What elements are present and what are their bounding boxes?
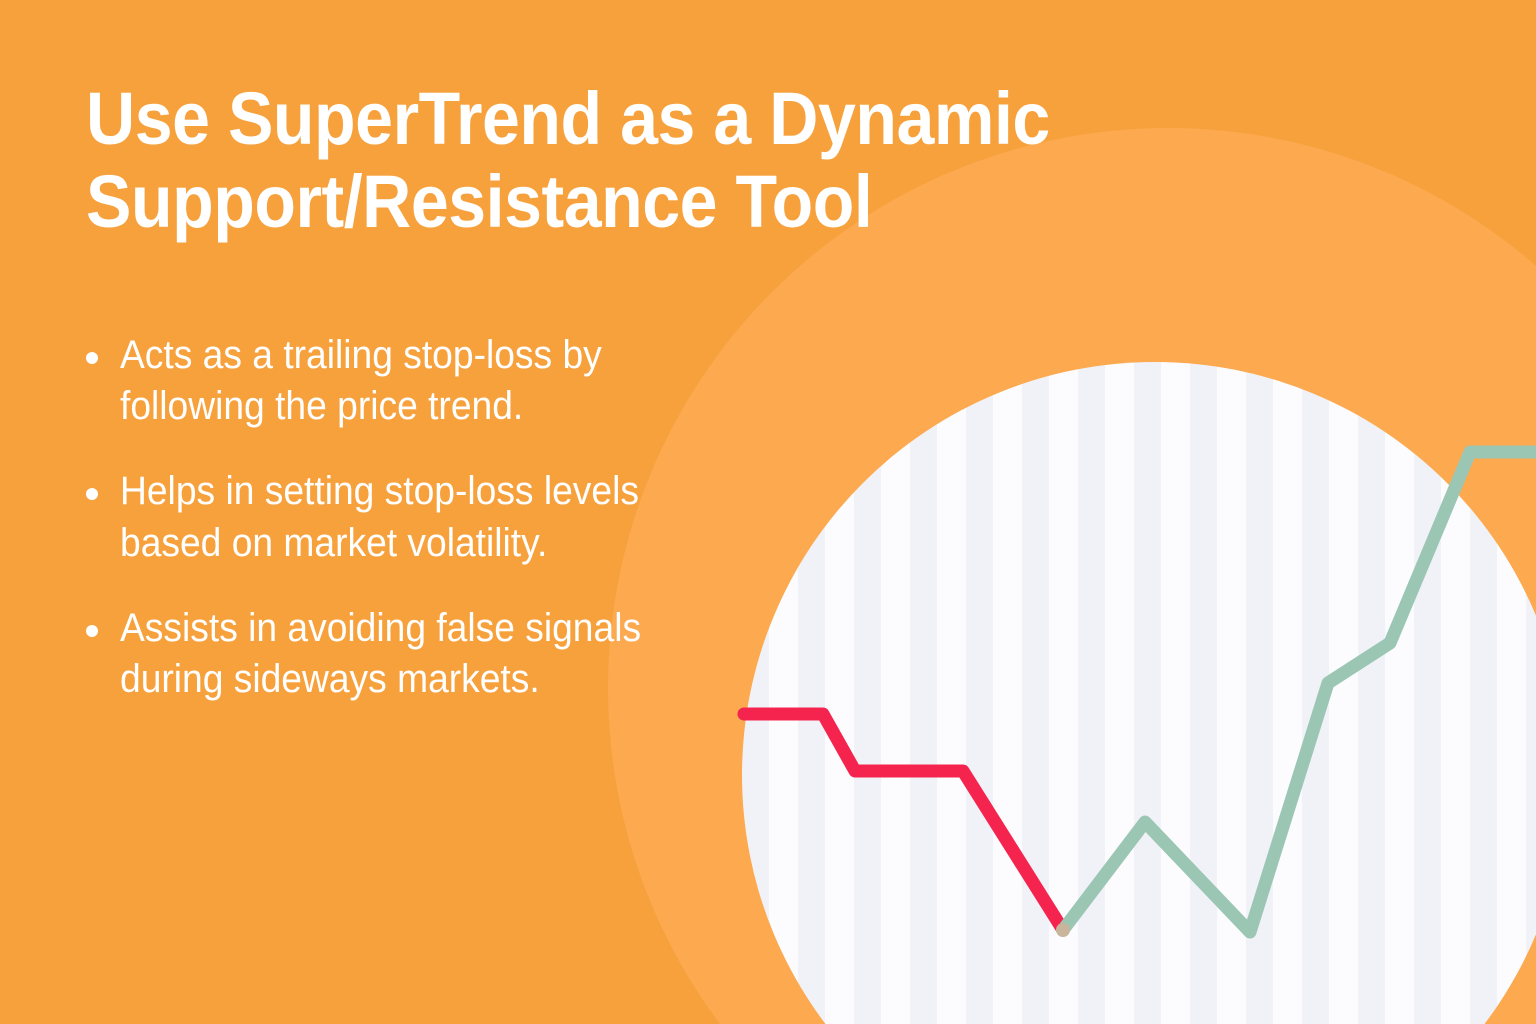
list-item: Assists in avoiding false signals during…	[86, 603, 726, 705]
bullet-text: Helps in setting stop-loss levels based …	[120, 466, 678, 568]
bullet-dot-icon	[86, 625, 98, 637]
list-item: Acts as a trailing stop-loss by followin…	[86, 330, 726, 432]
page-title: Use SuperTrend as a Dynamic Support/Resi…	[86, 78, 1208, 244]
bullet-dot-icon	[86, 352, 98, 364]
slide-root: Use SuperTrend as a Dynamic Support/Resi…	[0, 0, 1536, 1024]
list-item: Helps in setting stop-loss levels based …	[86, 466, 726, 568]
bullet-text: Assists in avoiding false signals during…	[120, 603, 678, 705]
bullet-dot-icon	[86, 488, 98, 500]
text-column: Use SuperTrend as a Dynamic Support/Resi…	[0, 0, 760, 1024]
bullet-list: Acts as a trailing stop-loss by followin…	[86, 330, 726, 739]
bullet-text: Acts as a trailing stop-loss by followin…	[120, 330, 678, 432]
